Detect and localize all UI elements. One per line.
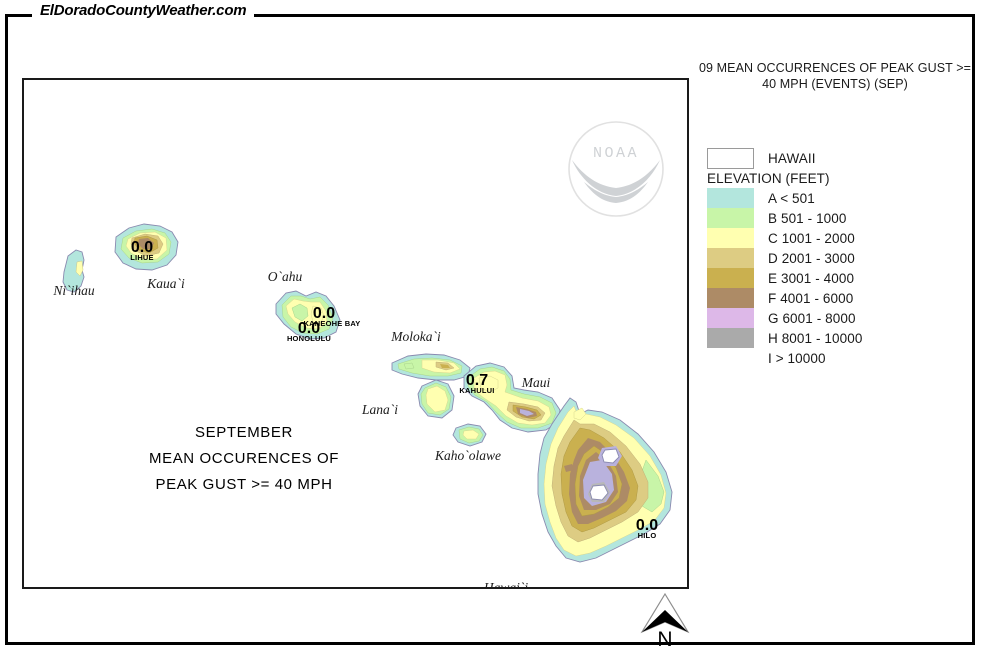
legend-label-2: C 1001 - 2000 <box>768 231 855 246</box>
noaa-logo-text: NOAA <box>593 145 639 162</box>
legend-label-8: I > 10000 <box>768 351 826 366</box>
map-caption: SEPTEMBER MEAN OCCURENCES OF PEAK GUST >… <box>84 420 404 498</box>
island-label-molokai: Moloka`i <box>390 329 441 344</box>
legend-swatch-0 <box>707 188 754 208</box>
map-header-title: 09 MEAN OCCURRENCES OF PEAK GUST >= 40 M… <box>690 60 980 92</box>
station-name-honolulu: HONOLULU <box>287 334 331 343</box>
legend-row-5: F 4001 - 6000 <box>707 288 927 308</box>
island-label-hawaii: Hawai`i <box>483 580 529 587</box>
island-label-lanai: Lana`i <box>361 402 398 417</box>
island-label-maui: Maui <box>521 375 551 390</box>
legend-swatch-2 <box>707 228 754 248</box>
station-lihue: 0.0 LIHUE <box>130 239 154 262</box>
legend-swatch-8 <box>707 348 754 368</box>
island-label-oahu: O`ahu <box>268 269 303 284</box>
island-molokai <box>392 354 470 380</box>
legend-swatch-3 <box>707 248 754 268</box>
legend-row-3: D 2001 - 3000 <box>707 248 927 268</box>
legend-label-7: H 8001 - 10000 <box>768 331 862 346</box>
legend-row-7: H 8001 - 10000 <box>707 328 927 348</box>
island-label-kahoolawe: Kaho`olawe <box>434 448 501 463</box>
legend-label-3: D 2001 - 3000 <box>768 251 855 266</box>
legend-swatch-1 <box>707 208 754 228</box>
legend-swatch-5 <box>707 288 754 308</box>
legend-row-0: A < 501 <box>707 188 927 208</box>
legend-row-2: C 1001 - 2000 <box>707 228 927 248</box>
north-arrow: N <box>636 592 694 654</box>
north-letter: N <box>636 628 694 652</box>
map-caption-line2: MEAN OCCURENCES OF <box>84 446 404 472</box>
station-name-hilo: HILO <box>638 531 657 540</box>
legend-label-4: E 3001 - 4000 <box>768 271 854 286</box>
legend-row-1: B 501 - 1000 <box>707 208 927 228</box>
legend-swatch-7 <box>707 328 754 348</box>
legend-swatch-4 <box>707 268 754 288</box>
legend-class-list: A < 501B 501 - 1000C 1001 - 2000D 2001 -… <box>707 188 927 368</box>
legend-row-area: HAWAII <box>707 148 927 168</box>
legend-swatch-hawaii <box>707 148 754 169</box>
legend-swatch-6 <box>707 308 754 328</box>
map-header-line2: 40 MPH (EVENTS) (SEP) <box>690 76 980 92</box>
map-caption-line3: PEAK GUST >= 40 MPH <box>84 472 404 498</box>
station-name-lihue: LIHUE <box>130 253 154 262</box>
island-label-kauai: Kaua`i <box>146 276 185 291</box>
island-label-niihau: Ni`ihau <box>52 283 95 298</box>
island-lanai <box>418 380 454 418</box>
legend-label-6: G 6001 - 8000 <box>768 311 856 326</box>
station-hilo: 0.0 HILO <box>636 517 658 540</box>
site-title: ElDoradoCountyWeather.com <box>32 2 254 19</box>
legend-label-0: A < 501 <box>768 191 815 206</box>
hawaii-islands-map: .isl-outline { stroke:#8a8ab0; stroke-wi… <box>24 80 687 587</box>
noaa-logo: NOAA <box>569 122 663 216</box>
legend-row-4: E 3001 - 4000 <box>707 268 927 288</box>
legend-row-8: I > 10000 <box>707 348 927 368</box>
legend-elevation-title: ELEVATION (FEET) <box>707 171 927 186</box>
legend-label-1: B 501 - 1000 <box>768 211 847 226</box>
legend: HAWAII ELEVATION (FEET) A < 501B 501 - 1… <box>707 148 927 368</box>
legend-label-5: F 4001 - 6000 <box>768 291 853 306</box>
legend-label-hawaii: HAWAII <box>768 151 816 166</box>
legend-row-6: G 6001 - 8000 <box>707 308 927 328</box>
island-kahoolawe <box>453 424 486 446</box>
station-name-kahului: KAHULUI <box>459 386 494 395</box>
map-panel[interactable]: .isl-outline { stroke:#8a8ab0; stroke-wi… <box>22 78 689 589</box>
map-caption-line1: SEPTEMBER <box>84 420 404 446</box>
map-header-line1: 09 MEAN OCCURRENCES OF PEAK GUST >= <box>690 60 980 76</box>
